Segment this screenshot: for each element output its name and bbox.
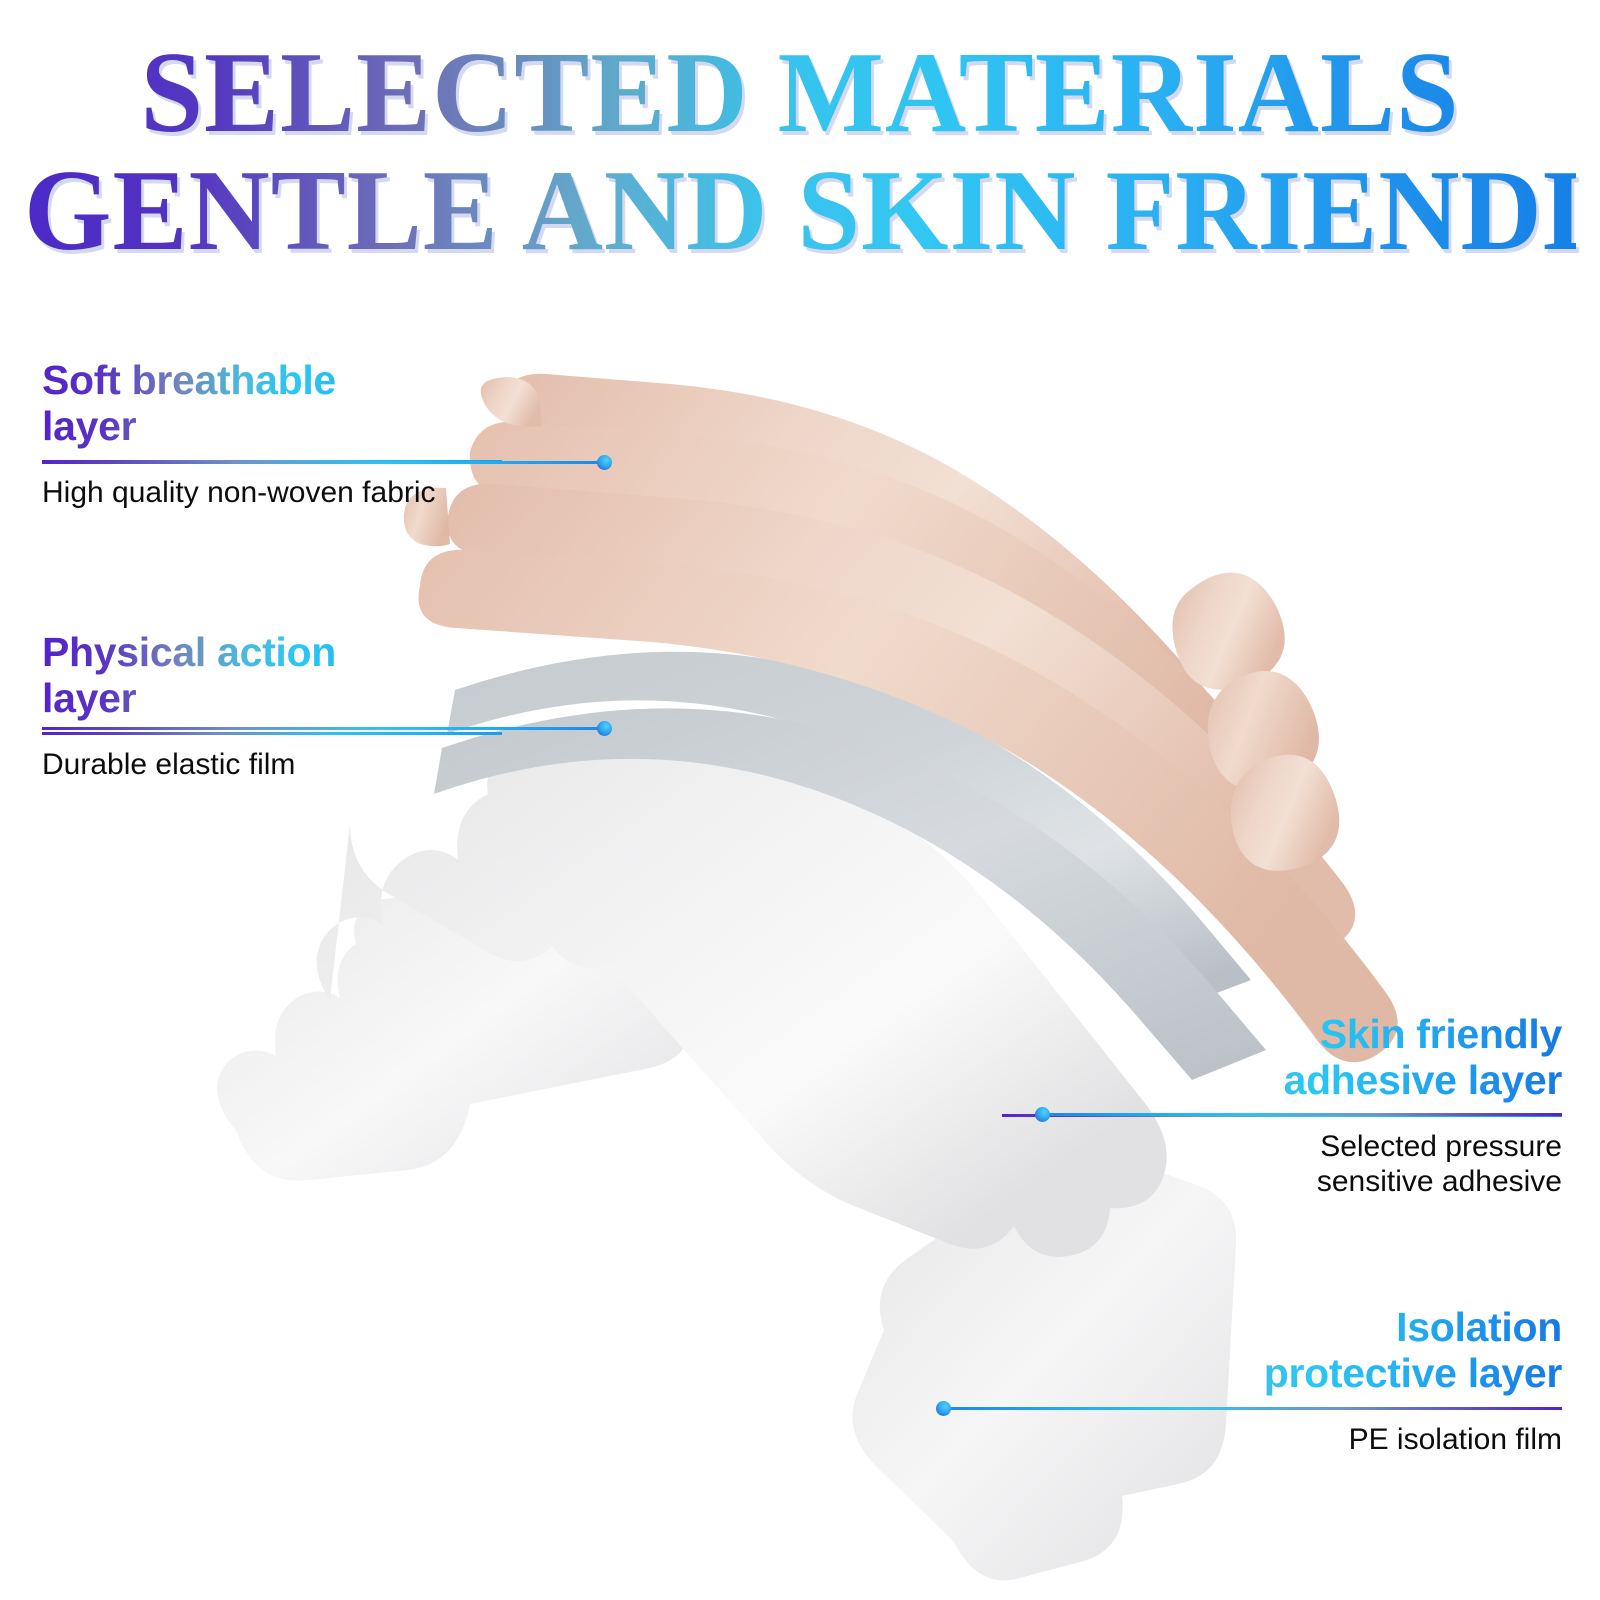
connector-dot-skin-friendly-adhesive [1035,1107,1050,1122]
callout-subtext: Durable elastic film [42,747,502,782]
callout-subtext: High quality non-woven fabric [42,475,502,510]
connector-dot-physical-action [597,721,612,736]
callout-rule [42,732,502,735]
callout-skin-friendly-adhesive-layer: Skin friendly adhesive layer Selected pr… [1002,1012,1562,1200]
connector-line-skin-friendly-adhesive [1044,1113,1562,1116]
callout-subtext: PE isolation film [1002,1422,1562,1457]
callout-heading: Skin friendly adhesive layer [1002,1012,1562,1104]
connector-line-physical-action [42,727,604,730]
infographic-page: SELECTED MATERIALS GENTLE AND SKIN FRIEN… [0,0,1600,1600]
connector-dot-isolation-protective [936,1401,951,1416]
callout-physical-action-layer: Physical action layer Durable elastic fi… [42,630,502,782]
connector-line-soft-breathable [42,461,604,464]
callout-heading: Isolation protective layer [1002,1305,1562,1397]
callout-heading: Physical action layer [42,630,502,722]
callout-subtext: Selected pressure sensitive adhesive [1002,1129,1562,1200]
connector-line-isolation-protective [945,1407,1562,1410]
callout-soft-breathable-layer: Soft breathable layer High quality non-w… [42,358,502,510]
callout-heading: Soft breathable layer [42,358,502,450]
connector-dot-soft-breathable [597,455,612,470]
callout-isolation-protective-layer: Isolation protective layer PE isolation … [1002,1305,1562,1457]
